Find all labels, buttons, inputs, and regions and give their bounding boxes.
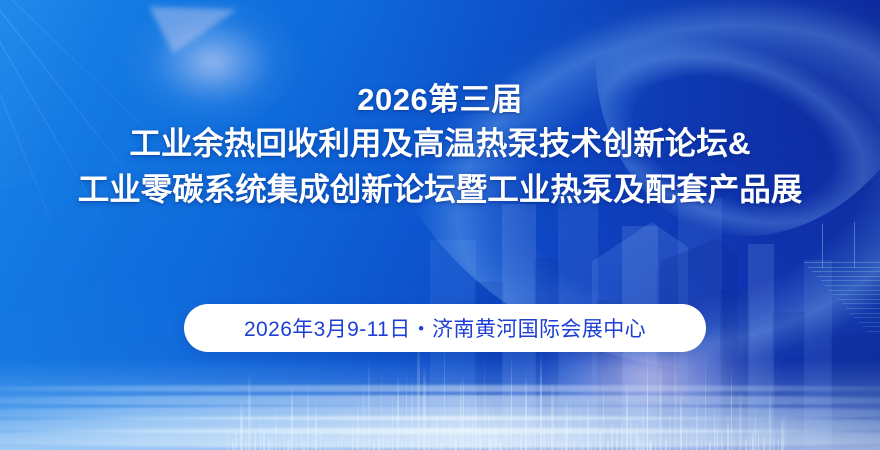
title-line-2: 工业余热回收利用及高温热泵技术创新论坛& (0, 120, 880, 166)
date-venue-pill: 2026年3月9-11日・济南黄河国际会展中心 (184, 304, 706, 352)
event-title: 2026第三届 工业余热回收利用及高温热泵技术创新论坛& 工业零碳系统集成创新论… (0, 80, 880, 212)
banner-content: 2026第三届 工业余热回收利用及高温热泵技术创新论坛& 工业零碳系统集成创新论… (0, 0, 880, 450)
event-banner: 2026第三届 工业余热回收利用及高温热泵技术创新论坛& 工业零碳系统集成创新论… (0, 0, 880, 450)
title-line-3: 工业零碳系统集成创新论坛暨工业热泵及配套产品展 (0, 166, 880, 212)
title-line-1: 2026第三届 (0, 80, 880, 120)
date-venue-label: 2026年3月9-11日・济南黄河国际会展中心 (244, 313, 646, 343)
